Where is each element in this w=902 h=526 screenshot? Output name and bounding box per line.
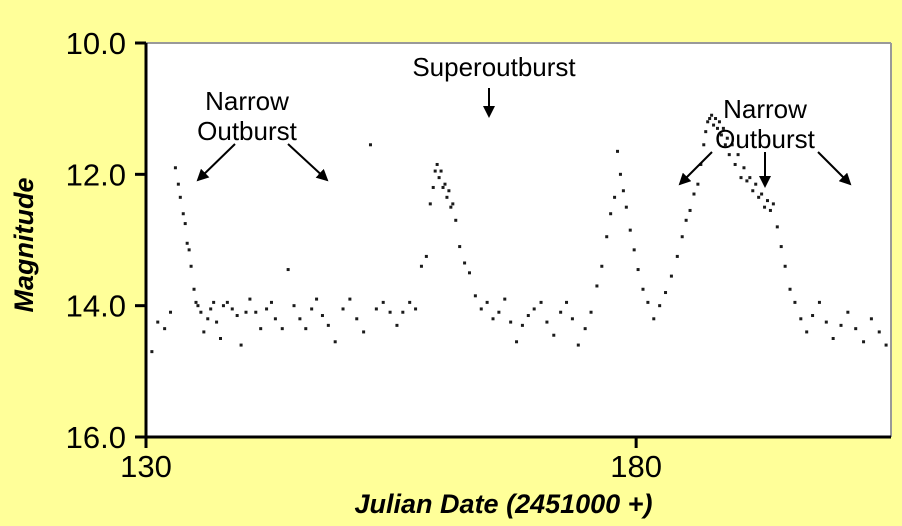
data-point xyxy=(447,189,450,192)
data-point xyxy=(708,117,711,120)
data-point xyxy=(670,275,673,278)
data-point xyxy=(184,222,187,225)
data-point xyxy=(799,317,802,320)
data-point xyxy=(414,307,417,310)
data-point xyxy=(805,330,808,333)
data-point xyxy=(552,334,555,337)
data-point xyxy=(369,143,372,146)
data-point xyxy=(486,301,489,304)
data-point xyxy=(846,311,849,314)
data-point xyxy=(231,307,234,310)
data-point xyxy=(590,311,593,314)
data-point xyxy=(832,337,835,340)
x-axis: 130180230 xyxy=(120,437,902,484)
data-point xyxy=(194,301,197,304)
data-point xyxy=(248,298,251,301)
data-point xyxy=(442,186,445,189)
data-point xyxy=(689,209,692,212)
data-point xyxy=(443,183,446,186)
data-point xyxy=(811,314,814,317)
data-point xyxy=(533,307,536,310)
data-point xyxy=(545,321,548,324)
data-point xyxy=(199,311,202,314)
data-point xyxy=(754,183,757,186)
data-point xyxy=(646,301,649,304)
data-point xyxy=(219,337,222,340)
data-point xyxy=(595,284,598,287)
data-point xyxy=(474,294,477,297)
data-point xyxy=(236,314,239,317)
data-point xyxy=(616,150,619,153)
data-point xyxy=(196,304,199,307)
data-point xyxy=(885,344,888,347)
data-point xyxy=(259,327,262,330)
data-point xyxy=(825,321,828,324)
data-point xyxy=(186,242,189,245)
data-point xyxy=(757,196,760,199)
data-point xyxy=(706,120,709,123)
y-tick-label: 16.0 xyxy=(66,420,126,455)
data-point xyxy=(565,301,568,304)
data-point xyxy=(298,317,301,320)
data-point xyxy=(265,307,268,310)
data-point xyxy=(182,212,185,215)
data-point xyxy=(212,301,215,304)
data-point xyxy=(840,324,843,327)
data-point xyxy=(734,163,737,166)
annotation-label: Narrow xyxy=(723,94,807,124)
y-axis-title: Magnitude xyxy=(9,178,39,313)
data-point xyxy=(334,340,337,343)
data-point xyxy=(436,163,439,166)
data-point xyxy=(432,186,435,189)
data-point xyxy=(190,265,193,268)
data-point xyxy=(789,288,792,291)
data-point xyxy=(696,183,699,186)
data-point xyxy=(704,130,707,133)
data-point xyxy=(784,265,787,268)
data-point xyxy=(270,301,273,304)
data-point xyxy=(751,189,754,192)
data-point xyxy=(327,324,330,327)
data-point xyxy=(429,202,432,205)
data-point xyxy=(480,307,483,310)
data-point xyxy=(497,311,500,314)
y-axis: 10.012.014.016.0 xyxy=(66,26,146,455)
data-point xyxy=(714,117,717,120)
data-point xyxy=(629,229,632,232)
data-point xyxy=(445,196,448,199)
data-point xyxy=(559,311,562,314)
annotation-label: Narrow xyxy=(205,86,289,116)
data-point xyxy=(609,212,612,215)
annotation-label: Superoutburst xyxy=(412,52,576,82)
data-point xyxy=(179,196,182,199)
data-point xyxy=(169,311,172,314)
data-point xyxy=(304,327,307,330)
data-point xyxy=(769,209,772,212)
chart-canvas: 10.012.014.016.0130180230Julian Date (24… xyxy=(0,0,902,526)
data-point xyxy=(348,298,351,301)
data-point xyxy=(375,307,378,310)
data-point xyxy=(763,206,766,209)
data-point xyxy=(440,170,443,173)
data-point xyxy=(652,317,655,320)
data-point xyxy=(509,321,512,324)
data-point xyxy=(315,298,318,301)
data-point xyxy=(613,196,616,199)
annotation-label: Outburst xyxy=(715,124,815,154)
data-point xyxy=(540,301,543,304)
data-point xyxy=(503,298,506,301)
data-point xyxy=(468,271,471,274)
data-point xyxy=(854,327,857,330)
data-point xyxy=(718,120,721,123)
data-point xyxy=(434,170,437,173)
data-point xyxy=(310,307,313,310)
data-point xyxy=(664,291,667,294)
data-point xyxy=(281,327,284,330)
light-curve-figure: 10.012.014.016.0130180230Julian Date (24… xyxy=(0,0,902,526)
data-point xyxy=(150,350,153,353)
data-point xyxy=(637,268,640,271)
data-point xyxy=(780,245,783,248)
data-point xyxy=(209,307,212,310)
data-point xyxy=(676,255,679,258)
data-point xyxy=(254,311,257,314)
data-point xyxy=(188,248,191,251)
data-point xyxy=(527,314,530,317)
data-point xyxy=(274,317,277,320)
data-point xyxy=(622,189,625,192)
data-point xyxy=(748,176,751,179)
data-point xyxy=(760,193,763,196)
data-point xyxy=(240,344,243,347)
data-point xyxy=(163,327,166,330)
data-point xyxy=(793,301,796,304)
data-point xyxy=(584,327,587,330)
data-point xyxy=(605,235,608,238)
data-point xyxy=(244,311,247,314)
data-point xyxy=(577,344,580,347)
data-point xyxy=(600,265,603,268)
data-point xyxy=(226,301,229,304)
data-point xyxy=(766,199,769,202)
data-point xyxy=(293,304,296,307)
data-point xyxy=(287,268,290,271)
data-point xyxy=(463,261,466,264)
data-point xyxy=(156,321,159,324)
data-point xyxy=(492,317,495,320)
data-point xyxy=(425,255,428,258)
data-point xyxy=(692,193,695,196)
data-point xyxy=(177,183,180,186)
data-point xyxy=(658,304,661,307)
data-point xyxy=(395,324,398,327)
y-tick-label: 12.0 xyxy=(66,157,126,192)
data-point xyxy=(382,301,385,304)
data-point xyxy=(362,330,365,333)
data-point xyxy=(641,288,644,291)
data-point xyxy=(742,166,745,169)
data-point xyxy=(878,330,881,333)
data-point xyxy=(458,245,461,248)
data-point xyxy=(206,317,209,320)
data-point xyxy=(681,235,684,238)
data-point xyxy=(420,265,423,268)
data-point xyxy=(389,311,392,314)
data-point xyxy=(702,143,705,146)
data-point xyxy=(776,225,779,228)
data-point xyxy=(449,206,452,209)
data-point xyxy=(438,176,441,179)
data-point xyxy=(342,307,345,310)
data-point xyxy=(685,219,688,222)
data-point xyxy=(619,173,622,176)
data-point xyxy=(772,202,775,205)
data-point xyxy=(745,179,748,182)
y-tick-label: 14.0 xyxy=(66,289,126,324)
data-point xyxy=(193,288,196,291)
data-point xyxy=(870,317,873,320)
x-axis-title: Julian Date (2451000 +) xyxy=(355,489,653,519)
data-point xyxy=(740,176,743,179)
x-tick-label: 180 xyxy=(610,449,662,484)
data-point xyxy=(215,321,218,324)
x-tick-label: 130 xyxy=(120,449,172,484)
y-tick-label: 10.0 xyxy=(66,26,126,61)
data-point xyxy=(408,301,411,304)
data-point xyxy=(454,219,457,222)
data-point xyxy=(515,340,518,343)
data-point xyxy=(202,330,205,333)
data-point xyxy=(222,304,225,307)
data-point xyxy=(401,311,404,314)
data-point xyxy=(451,202,454,205)
data-point xyxy=(571,317,574,320)
data-point xyxy=(625,206,628,209)
data-point xyxy=(355,317,358,320)
data-point xyxy=(633,248,636,251)
data-point xyxy=(521,324,524,327)
data-point xyxy=(321,314,324,317)
data-point xyxy=(818,301,821,304)
data-point xyxy=(862,340,865,343)
data-point xyxy=(710,114,713,117)
annotation-label: Outburst xyxy=(197,116,297,146)
data-point xyxy=(174,166,177,169)
